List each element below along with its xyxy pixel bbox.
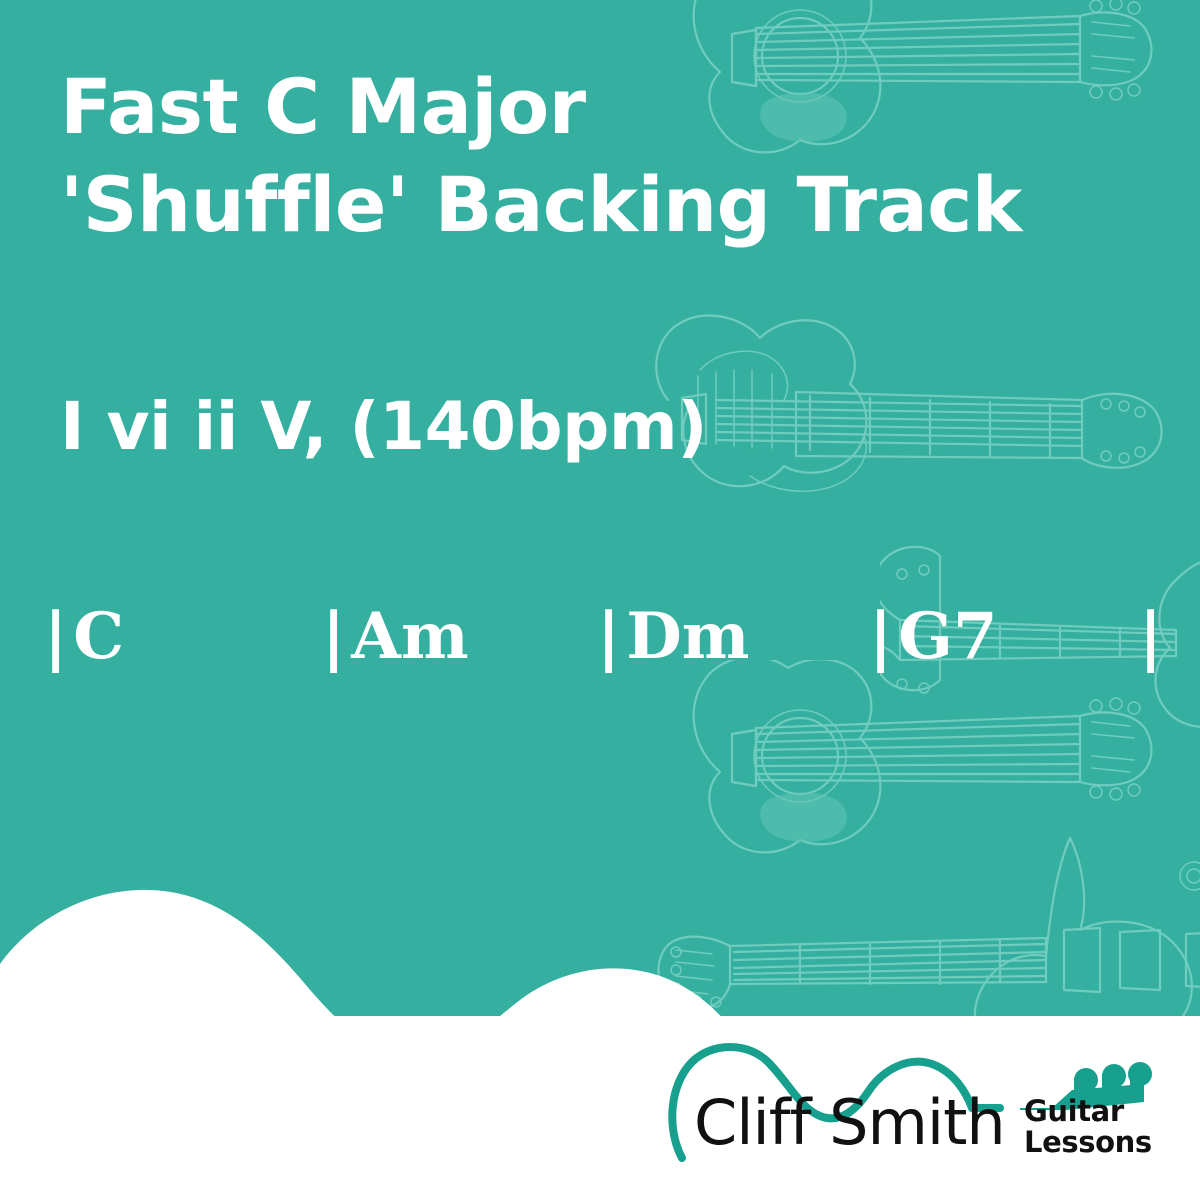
title-line-2: 'Shuffle' Backing Track xyxy=(60,156,1170,254)
title-block: Fast C Major 'Shuffle' Backing Track xyxy=(60,58,1170,254)
chord-name-4: G7 xyxy=(898,600,997,674)
bar-line-icon: | xyxy=(597,600,620,674)
chord-measure-1: | C xyxy=(44,600,322,674)
chord-name-1: C xyxy=(73,600,124,674)
backing-track-graphic: Fast C Major 'Shuffle' Backing Track I v… xyxy=(0,0,1200,1200)
chord-end-bar: | xyxy=(1139,600,1162,674)
logo-sub-line-2: Lessons xyxy=(1024,1127,1152,1158)
chord-name-3: Dm xyxy=(626,600,749,674)
logo-sub-text: Guitar Lessons xyxy=(1024,1096,1152,1158)
bar-line-icon: | xyxy=(44,600,67,674)
chord-measure-4: | G7 xyxy=(869,600,1139,674)
subtitle-block: I vi ii V, (140bpm) xyxy=(60,385,1170,469)
bar-line-icon: | xyxy=(322,600,345,674)
logo-sub-line-1: Guitar xyxy=(1024,1096,1152,1127)
title-line-1: Fast C Major xyxy=(60,58,1170,156)
bar-line-icon: | xyxy=(869,600,892,674)
chord-measure-3: | Dm xyxy=(597,600,869,674)
logo-wordmark: Cliff Smith xyxy=(694,1092,1005,1154)
chord-measure-2: | Am xyxy=(322,600,597,674)
subtitle-line-1: I vi ii V, (140bpm) xyxy=(60,385,1170,469)
brand-logo: Cliff Smith Guitar Lessons xyxy=(668,1040,1168,1170)
chord-chart: | C | Am | Dm | G7 | xyxy=(44,600,1174,674)
chord-name-2: Am xyxy=(351,600,468,674)
bar-line-icon: | xyxy=(1139,600,1162,674)
